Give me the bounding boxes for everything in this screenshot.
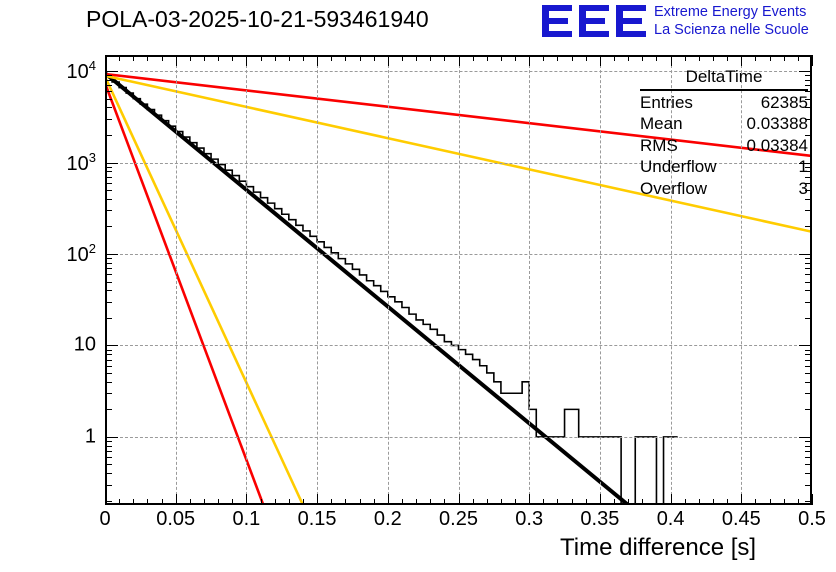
y-tick-minor-right <box>805 354 812 355</box>
x-tick-minor-top <box>685 55 686 61</box>
x-tick-minor <box>430 499 431 505</box>
y-tick-major-right <box>799 437 812 438</box>
x-tick-minor-top <box>784 55 785 61</box>
y-tick-minor-right <box>805 485 812 486</box>
y-tick-minor <box>105 75 112 76</box>
y-tick-minor <box>105 464 112 465</box>
y-tick-minor <box>105 282 112 283</box>
y-tick-major <box>105 437 118 438</box>
x-tick-minor <box>261 499 262 505</box>
y-tick-minor-right <box>805 302 812 303</box>
y-tick-minor <box>105 318 112 319</box>
x-tick-minor-top <box>402 55 403 61</box>
y-tick-minor <box>105 409 112 410</box>
x-tick-minor <box>543 499 544 505</box>
y-tick-minor <box>105 302 112 303</box>
y-tick-minor <box>105 119 112 120</box>
stats-row: Entries62385 <box>640 92 808 114</box>
x-tick-label: 0.2 <box>374 508 402 531</box>
x-tick-minor-top <box>331 55 332 61</box>
x-tick-minor-top <box>275 55 276 61</box>
y-tick-minor <box>105 263 112 264</box>
y-tick-minor <box>105 80 112 81</box>
x-tick-minor <box>713 499 714 505</box>
x-tick-minor-top <box>303 55 304 61</box>
stats-key: Underflow <box>640 156 717 178</box>
y-tick-minor <box>105 91 112 92</box>
y-tick-minor <box>105 210 112 211</box>
x-tick-minor-top <box>289 55 290 61</box>
x-tick-minor-top <box>261 55 262 61</box>
x-tick-major-top <box>600 55 601 66</box>
y-tick-minor-right <box>805 393 812 394</box>
eee-logo-mark <box>542 4 646 38</box>
y-tick-label: 102 <box>0 241 96 267</box>
y-tick-minor <box>105 135 112 136</box>
x-tick-minor <box>345 499 346 505</box>
x-tick-minor-top <box>515 55 516 61</box>
x-tick-minor-top <box>162 55 163 61</box>
y-tick-minor-right <box>805 409 812 410</box>
eee-logo-text: Extreme Energy Events La Scienza nelle S… <box>654 3 809 39</box>
y-tick-minor <box>105 199 112 200</box>
x-tick-minor-top <box>232 55 233 61</box>
x-tick-major-top <box>388 55 389 66</box>
x-tick-minor-top <box>572 55 573 61</box>
stats-value: 62385 <box>761 92 808 114</box>
x-tick-minor <box>473 499 474 505</box>
stats-value: 0.03384 <box>747 135 808 157</box>
x-tick-minor <box>572 499 573 505</box>
x-tick-label: 0.15 <box>298 508 337 531</box>
x-tick-minor <box>628 499 629 505</box>
x-tick-major <box>529 494 530 505</box>
x-tick-minor-top <box>543 55 544 61</box>
x-tick-minor-top <box>147 55 148 61</box>
y-tick-label: 103 <box>0 150 96 176</box>
x-tick-minor <box>755 499 756 505</box>
eee-logo: Extreme Energy Events La Scienza nelle S… <box>542 2 836 42</box>
plot-title: POLA-03-2025-10-21-593461940 <box>86 6 556 33</box>
x-tick-major <box>671 494 672 505</box>
x-tick-major <box>105 494 106 505</box>
y-tick-minor <box>105 354 112 355</box>
x-tick-minor <box>218 499 219 505</box>
y-tick-minor <box>105 274 112 275</box>
x-tick-minor-top <box>501 55 502 61</box>
x-tick-minor <box>784 499 785 505</box>
x-tick-minor <box>360 499 361 505</box>
x-tick-major-top <box>317 55 318 66</box>
x-tick-major-top <box>176 55 177 66</box>
x-tick-minor <box>402 499 403 505</box>
x-tick-major <box>459 494 460 505</box>
x-tick-minor <box>515 499 516 505</box>
y-tick-minor <box>105 190 112 191</box>
y-tick-minor-right <box>805 473 812 474</box>
x-tick-major <box>600 494 601 505</box>
x-tick-minor <box>204 499 205 505</box>
x-tick-label: 0.35 <box>580 508 619 531</box>
x-tick-minor <box>501 499 502 505</box>
y-tick-minor-right <box>805 451 812 452</box>
x-tick-minor-top <box>204 55 205 61</box>
x-tick-minor <box>586 499 587 505</box>
y-tick-minor-right <box>805 258 812 259</box>
x-tick-major <box>246 494 247 505</box>
x-tick-major <box>176 494 177 505</box>
y-tick-major <box>105 254 118 255</box>
x-tick-minor <box>557 499 558 505</box>
x-tick-label: 0.45 <box>722 508 761 531</box>
x-tick-label: 0.5 <box>798 508 826 531</box>
y-tick-minor-right <box>805 263 812 264</box>
y-tick-major <box>105 71 118 72</box>
y-tick-major <box>105 345 118 346</box>
y-tick-minor-right <box>805 366 812 367</box>
x-tick-minor-top <box>755 55 756 61</box>
x-tick-label: 0.05 <box>156 508 195 531</box>
x-tick-major-top <box>246 55 247 66</box>
x-tick-major-top <box>105 55 106 66</box>
x-tick-minor <box>798 499 799 505</box>
y-tick-minor-right <box>805 457 812 458</box>
x-tick-minor-top <box>586 55 587 61</box>
x-tick-minor <box>162 499 163 505</box>
x-tick-minor-top <box>557 55 558 61</box>
x-tick-minor-top <box>798 55 799 61</box>
x-tick-label: 0.1 <box>232 508 260 531</box>
y-tick-minor <box>105 393 112 394</box>
y-tick-minor <box>105 183 112 184</box>
y-tick-label: 104 <box>0 58 96 84</box>
eee-logo-line1: Extreme Energy Events <box>654 3 809 21</box>
x-tick-minor-top <box>218 55 219 61</box>
x-tick-minor <box>727 499 728 505</box>
y-tick-minor-right <box>805 274 812 275</box>
x-tick-minor-top <box>430 55 431 61</box>
y-tick-minor-right <box>805 373 812 374</box>
x-tick-minor-top <box>345 55 346 61</box>
x-tick-minor <box>770 499 771 505</box>
y-tick-minor <box>105 290 112 291</box>
x-tick-minor-top <box>770 55 771 61</box>
x-tick-minor <box>444 499 445 505</box>
y-tick-minor <box>105 441 112 442</box>
y-tick-minor <box>105 177 112 178</box>
y-tick-minor <box>105 360 112 361</box>
y-tick-minor <box>105 258 112 259</box>
y-tick-minor-right <box>805 210 812 211</box>
y-tick-minor <box>105 268 112 269</box>
x-tick-minor-top <box>360 55 361 61</box>
x-tick-label: 0.3 <box>515 508 543 531</box>
x-tick-label: 0.25 <box>439 508 478 531</box>
x-tick-minor-top <box>190 55 191 61</box>
x-tick-minor <box>699 499 700 505</box>
x-tick-label: 0.4 <box>657 508 685 531</box>
x-tick-major-top <box>529 55 530 66</box>
x-tick-major-top <box>741 55 742 66</box>
y-tick-minor <box>105 382 112 383</box>
stats-row: Mean0.03388 <box>640 113 808 135</box>
x-tick-major-top <box>671 55 672 66</box>
y-tick-minor-right <box>805 282 812 283</box>
x-tick-minor-top <box>642 55 643 61</box>
y-tick-minor-right <box>805 501 812 502</box>
x-tick-minor <box>656 499 657 505</box>
y-tick-minor <box>105 501 112 502</box>
x-tick-minor <box>303 499 304 505</box>
y-tick-minor <box>105 350 112 351</box>
eee-logo-line2: La Scienza nelle Scuole <box>654 21 809 39</box>
y-tick-minor-right <box>805 199 812 200</box>
y-tick-minor <box>105 226 112 227</box>
y-tick-major-right <box>799 345 812 346</box>
stats-key: Mean <box>640 113 683 135</box>
x-tick-minor <box>331 499 332 505</box>
root-canvas: POLA-03-2025-10-21-593461940 Extreme Ene… <box>0 0 836 572</box>
x-tick-minor <box>642 499 643 505</box>
x-tick-minor <box>416 499 417 505</box>
y-tick-minor <box>105 485 112 486</box>
x-tick-minor <box>190 499 191 505</box>
y-tick-minor <box>105 366 112 367</box>
stats-value: 1 <box>799 156 808 178</box>
x-tick-major <box>812 494 813 505</box>
x-tick-minor-top <box>614 55 615 61</box>
stats-key: Entries <box>640 92 693 114</box>
x-tick-minor <box>119 499 120 505</box>
x-tick-minor-top <box>374 55 375 61</box>
y-tick-minor <box>105 457 112 458</box>
x-tick-minor <box>147 499 148 505</box>
stats-value: 0.03388 <box>747 113 808 135</box>
y-tick-minor-right <box>805 464 812 465</box>
stats-row: Overflow3 <box>640 178 808 200</box>
y-tick-minor <box>105 171 112 172</box>
x-tick-minor-top <box>699 55 700 61</box>
y-tick-minor-right <box>805 446 812 447</box>
y-tick-minor <box>105 473 112 474</box>
x-tick-minor <box>487 499 488 505</box>
x-tick-minor-top <box>713 55 714 61</box>
y-tick-label: 10 <box>0 334 96 357</box>
x-tick-minor <box>289 499 290 505</box>
y-tick-major <box>105 163 118 164</box>
x-tick-label: 0 <box>99 508 110 531</box>
y-tick-minor <box>105 167 112 168</box>
stats-key: RMS <box>640 135 678 157</box>
x-tick-major-top <box>459 55 460 66</box>
x-tick-minor-top <box>119 55 120 61</box>
y-tick-minor-right <box>805 290 812 291</box>
x-tick-minor-top <box>416 55 417 61</box>
y-tick-minor <box>105 99 112 100</box>
x-tick-major <box>317 494 318 505</box>
stats-row: RMS0.03384 <box>640 135 808 157</box>
y-tick-minor <box>105 107 112 108</box>
y-tick-label: 1 <box>0 425 96 448</box>
x-tick-minor <box>614 499 615 505</box>
x-tick-minor <box>685 499 686 505</box>
x-tick-major <box>741 494 742 505</box>
stats-box: DeltaTime Entries62385Mean0.03388RMS0.03… <box>640 66 808 199</box>
x-tick-minor-top <box>473 55 474 61</box>
y-tick-minor <box>105 85 112 86</box>
x-tick-minor-top <box>656 55 657 61</box>
x-tick-major <box>388 494 389 505</box>
x-tick-minor-top <box>133 55 134 61</box>
x-tick-minor <box>275 499 276 505</box>
x-tick-major-top <box>812 55 813 66</box>
x-tick-minor-top <box>487 55 488 61</box>
x-tick-minor <box>232 499 233 505</box>
stats-row: Underflow1 <box>640 156 808 178</box>
x-tick-minor-top <box>444 55 445 61</box>
x-tick-minor-top <box>727 55 728 61</box>
x-tick-minor <box>133 499 134 505</box>
x-tick-minor <box>374 499 375 505</box>
stats-key: Overflow <box>640 178 707 200</box>
y-tick-minor <box>105 373 112 374</box>
y-tick-minor-right <box>805 268 812 269</box>
y-tick-minor-right <box>805 350 812 351</box>
y-tick-minor-right <box>805 318 812 319</box>
x-tick-minor-top <box>628 55 629 61</box>
stats-value: 3 <box>799 178 808 200</box>
y-tick-minor-right <box>805 226 812 227</box>
y-tick-minor <box>105 451 112 452</box>
x-axis-title: Time difference [s] <box>560 534 756 562</box>
y-tick-minor-right <box>805 382 812 383</box>
y-tick-minor-right <box>805 441 812 442</box>
y-tick-minor <box>105 446 112 447</box>
y-tick-minor-right <box>805 360 812 361</box>
stats-title: DeltaTime <box>640 66 808 91</box>
y-tick-major-right <box>799 254 812 255</box>
